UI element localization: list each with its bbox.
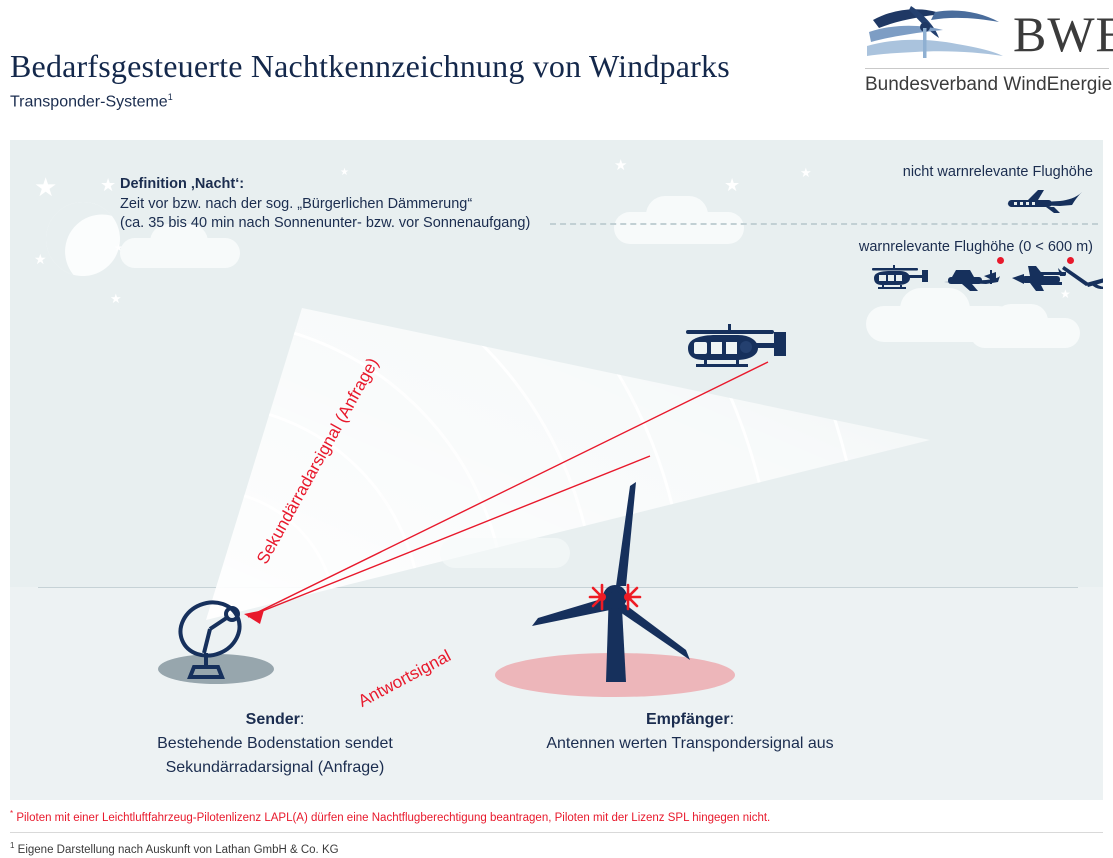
caption-receiver-colon: : [730,711,734,728]
bwe-logo: BWE Bundesverband WindEnergie [861,2,1109,102]
caption-receiver-line-1: Antennen werten Transpondersignal aus [440,732,940,756]
caption-sender-line-2: Sekundärradarsignal (Anfrage) [65,756,485,780]
definition-line-2: (ca. 35 bis 40 min nach Sonnenunter- bzw… [120,214,550,233]
red-flashing-light-icon [588,578,642,616]
caption-sender-colon: : [300,711,304,728]
caption-sender-heading: Sender: [65,708,485,732]
airliner-icon [1002,186,1086,216]
warn-light-marker-icon [997,257,1004,264]
bwe-wind-wave-logo-icon [865,4,1005,66]
label-non-warn-relevant-altitude: nicht warnrelevante Flughöhe [903,164,1093,180]
logo-divider [865,68,1109,69]
star-icon: ★ [724,176,740,194]
caption-sender: Sender: Bestehende Bodenstation sendet S… [65,708,485,780]
footnote-star-marker: * [10,809,13,818]
star-icon: ★ [34,252,47,266]
footnote-star-text: Piloten mit einer Leichtluftfahrzeug-Pil… [16,812,770,824]
cloud-icon [994,304,1048,338]
glider-icon [1060,262,1103,294]
definition-title: Definition ‚Nacht‘: [120,176,550,192]
label-warn-relevant-altitude: warnrelevante Flughöhe (0 < 600 m) [859,239,1093,255]
propeller-plane-icon [940,262,1002,294]
page-subtitle: Transponder-Systeme1 [10,92,173,111]
helicopter-icon [868,262,930,294]
caption-receiver-head: Empfänger [646,711,730,728]
caption-receiver: Empfänger: Antennen werten Transpondersi… [440,708,940,756]
page-subtitle-text: Transponder-Systeme [10,93,168,110]
footnote-one-marker: 1 [10,841,14,850]
infographic-page: Bedarfsgesteuerte Nachtkennzeichnung von… [0,0,1113,850]
cloud-icon [646,196,708,234]
footnote-star: * Piloten mit einer Leichtluftfahrzeug-P… [10,806,1103,826]
altitude-divider-dashed-line [550,223,1098,225]
caption-sender-head: Sender [246,711,300,728]
footnote-divider [10,832,1103,833]
star-icon: ★ [100,176,116,194]
caption-sender-line-1: Bestehende Bodenstation sendet [65,732,485,756]
star-icon: ★ [34,174,57,200]
cloud-icon [900,288,970,330]
caption-receiver-heading: Empfänger: [440,708,940,732]
subtitle-footnote-marker: 1 [168,92,173,102]
bwe-wordmark: BWE [1013,6,1113,62]
satellite-dish-icon [156,595,286,685]
star-icon: ★ [800,166,812,179]
definition-line-1: Zeit vor bzw. nach der sog. „Bürgerliche… [120,195,550,214]
bwe-tagline: Bundesverband WindEnergie [865,74,1112,96]
wind-turbine-icon [480,290,780,700]
star-icon: ★ [110,292,122,305]
footnote-one: 1 Eigene Darstellung nach Auskunft von L… [10,838,1103,858]
illustration-panel: ★ ★ ★ ★ ★ ★ ★ ★ ★ ★ Definition ‚Nacht‘: … [10,140,1103,800]
definition-block: Definition ‚Nacht‘: Zeit vor bzw. nach d… [120,176,550,233]
page-title: Bedarfsgesteuerte Nachtkennzeichnung von… [10,48,730,85]
star-icon: ★ [614,158,627,173]
page-header: Bedarfsgesteuerte Nachtkennzeichnung von… [0,0,1113,130]
